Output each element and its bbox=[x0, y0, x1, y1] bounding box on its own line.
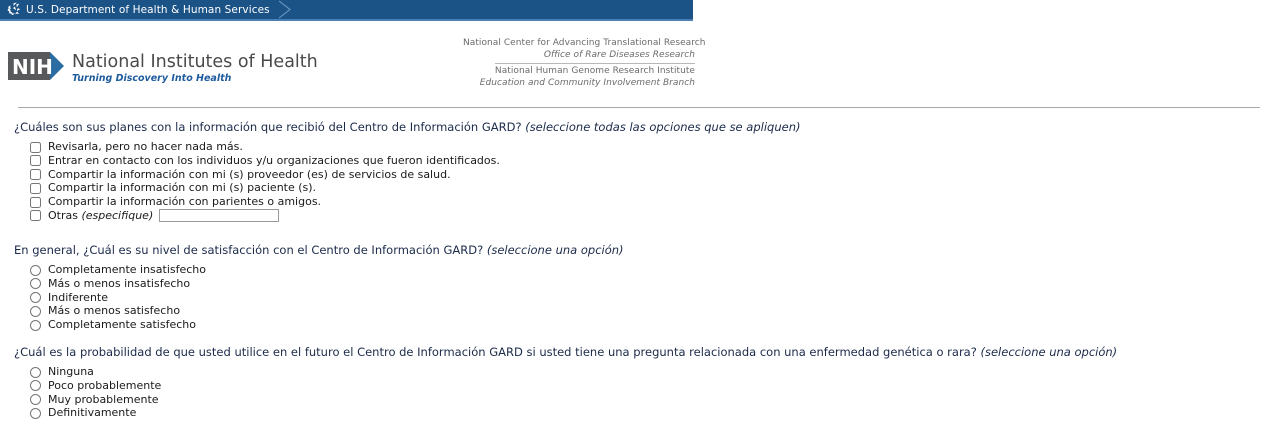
hhs-banner-label: U.S. Department of Health & Human Servic… bbox=[26, 4, 270, 16]
agency-header-block: National Center for Advancing Translatio… bbox=[463, 38, 695, 89]
checkbox-input-5[interactable] bbox=[30, 197, 41, 208]
checkbox-option-1[interactable]: Revisarla, pero no hacer nada más. bbox=[30, 142, 800, 152]
question-1-options: Revisarla, pero no hacer nada más. Entra… bbox=[30, 142, 800, 221]
question-2-text: En general, ¿Cuál es su nivel de satisfa… bbox=[14, 243, 624, 257]
other-specify-input[interactable] bbox=[159, 209, 279, 222]
question-3-main: ¿Cuál es la probabilidad de que usted ut… bbox=[14, 345, 981, 359]
banner-underline bbox=[0, 19, 693, 21]
radio-input-satisfaction-2[interactable] bbox=[30, 278, 41, 289]
agency-divider bbox=[495, 63, 695, 64]
checkbox-option-2[interactable]: Entrar en contacto con los individuos y/… bbox=[30, 156, 800, 166]
question-block-3: ¿Cuál es la probabilidad de que usted ut… bbox=[0, 345, 1117, 422]
radio-option-satisfaction-4[interactable]: Más o menos satisfecho bbox=[30, 306, 624, 316]
header-divider bbox=[18, 107, 1260, 108]
checkbox-option-3[interactable]: Compartir la información con mi (s) prov… bbox=[30, 170, 800, 180]
checkbox-input-3[interactable] bbox=[30, 169, 41, 180]
checkbox-label-6-main: Otras bbox=[48, 209, 81, 222]
radio-label-likelihood-4: Definitivamente bbox=[48, 407, 136, 419]
radio-label-likelihood-3: Muy probablemente bbox=[48, 394, 159, 406]
radio-label-likelihood-1: Ninguna bbox=[48, 366, 94, 378]
radio-input-satisfaction-1[interactable] bbox=[30, 265, 41, 276]
question-2-options: Completamente insatisfecho Más o menos i… bbox=[30, 265, 624, 330]
checkbox-option-4[interactable]: Compartir la información con mi (s) paci… bbox=[30, 183, 800, 193]
agency-line-ncats: National Center for Advancing Translatio… bbox=[463, 38, 695, 50]
radio-option-likelihood-3[interactable]: Muy probablemente bbox=[30, 395, 1117, 405]
checkbox-label-4: Compartir la información con mi (s) paci… bbox=[48, 182, 316, 194]
radio-input-likelihood-3[interactable] bbox=[30, 394, 41, 405]
checkbox-option-5[interactable]: Compartir la información con parientes o… bbox=[30, 197, 800, 207]
radio-label-satisfaction-2: Más o menos insatisfecho bbox=[48, 278, 190, 290]
nih-logo-icon: NIH bbox=[8, 51, 66, 81]
question-2-main: En general, ¿Cuál es su nivel de satisfa… bbox=[14, 243, 487, 257]
question-block-2: En general, ¿Cuál es su nivel de satisfa… bbox=[0, 243, 624, 334]
nih-logo: NIH National Institutes of Health Turnin… bbox=[8, 51, 318, 85]
checkbox-input-4[interactable] bbox=[30, 183, 41, 194]
nih-tagline: Turning Discovery Into Health bbox=[72, 73, 318, 85]
checkbox-label-3: Compartir la información con mi (s) prov… bbox=[48, 169, 451, 181]
agency-line-ordr: Office of Rare Diseases Research bbox=[463, 50, 695, 62]
radio-input-satisfaction-4[interactable] bbox=[30, 306, 41, 317]
hhs-banner: U.S. Department of Health & Human Servic… bbox=[0, 0, 693, 19]
radio-option-satisfaction-5[interactable]: Completamente satisfecho bbox=[30, 320, 624, 330]
question-1-text: ¿Cuáles son sus planes con la informació… bbox=[14, 120, 800, 134]
question-1-hint: (seleccione todas las opciones que se ap… bbox=[525, 120, 800, 134]
nih-title: National Institutes of Health bbox=[72, 52, 318, 72]
hhs-eagle-icon bbox=[6, 2, 22, 17]
checkbox-label-6: Otras (especifique) bbox=[48, 210, 153, 222]
checkbox-option-6-other[interactable]: Otras (especifique) bbox=[30, 211, 800, 221]
question-3-options: Ninguna Poco probablemente Muy probablem… bbox=[30, 367, 1117, 418]
checkbox-input-6[interactable] bbox=[30, 210, 41, 221]
question-block-1: ¿Cuáles son sus planes con la informació… bbox=[0, 120, 800, 225]
svg-text:NIH: NIH bbox=[12, 55, 53, 79]
question-3-text: ¿Cuál es la probabilidad de que usted ut… bbox=[14, 345, 1117, 359]
agency-line-nhgri: National Human Genome Research Institute bbox=[463, 66, 695, 78]
radio-option-satisfaction-3[interactable]: Indiferente bbox=[30, 293, 624, 303]
radio-option-satisfaction-1[interactable]: Completamente insatisfecho bbox=[30, 265, 624, 275]
radio-label-satisfaction-3: Indiferente bbox=[48, 292, 108, 304]
radio-option-satisfaction-2[interactable]: Más o menos insatisfecho bbox=[30, 279, 624, 289]
radio-input-likelihood-1[interactable] bbox=[30, 367, 41, 378]
checkbox-label-6-italic: (especifique) bbox=[81, 209, 153, 222]
radio-label-satisfaction-5: Completamente satisfecho bbox=[48, 319, 196, 331]
radio-option-likelihood-4[interactable]: Definitivamente bbox=[30, 408, 1117, 418]
checkbox-input-2[interactable] bbox=[30, 155, 41, 166]
site-header: NIH National Institutes of Health Turnin… bbox=[0, 24, 1273, 96]
radio-label-satisfaction-1: Completamente insatisfecho bbox=[48, 264, 206, 276]
radio-input-satisfaction-5[interactable] bbox=[30, 320, 41, 331]
radio-option-likelihood-1[interactable]: Ninguna bbox=[30, 367, 1117, 377]
radio-option-likelihood-2[interactable]: Poco probablemente bbox=[30, 381, 1117, 391]
question-1-main: ¿Cuáles son sus planes con la informació… bbox=[14, 120, 525, 134]
question-2-hint: (seleccione una opción) bbox=[487, 243, 624, 257]
checkbox-input-1[interactable] bbox=[30, 142, 41, 153]
checkbox-label-5: Compartir la información con parientes o… bbox=[48, 196, 321, 208]
radio-input-likelihood-2[interactable] bbox=[30, 380, 41, 391]
checkbox-label-1: Revisarla, pero no hacer nada más. bbox=[48, 141, 243, 153]
question-3-hint: (seleccione una opción) bbox=[981, 345, 1118, 359]
agency-line-ecib: Education and Community Involvement Bran… bbox=[463, 78, 695, 90]
radio-label-satisfaction-4: Más o menos satisfecho bbox=[48, 305, 180, 317]
chevron-right-icon bbox=[277, 0, 293, 19]
radio-input-likelihood-4[interactable] bbox=[30, 408, 41, 419]
radio-input-satisfaction-3[interactable] bbox=[30, 292, 41, 303]
radio-label-likelihood-2: Poco probablemente bbox=[48, 380, 161, 392]
checkbox-label-2: Entrar en contacto con los individuos y/… bbox=[48, 155, 500, 167]
